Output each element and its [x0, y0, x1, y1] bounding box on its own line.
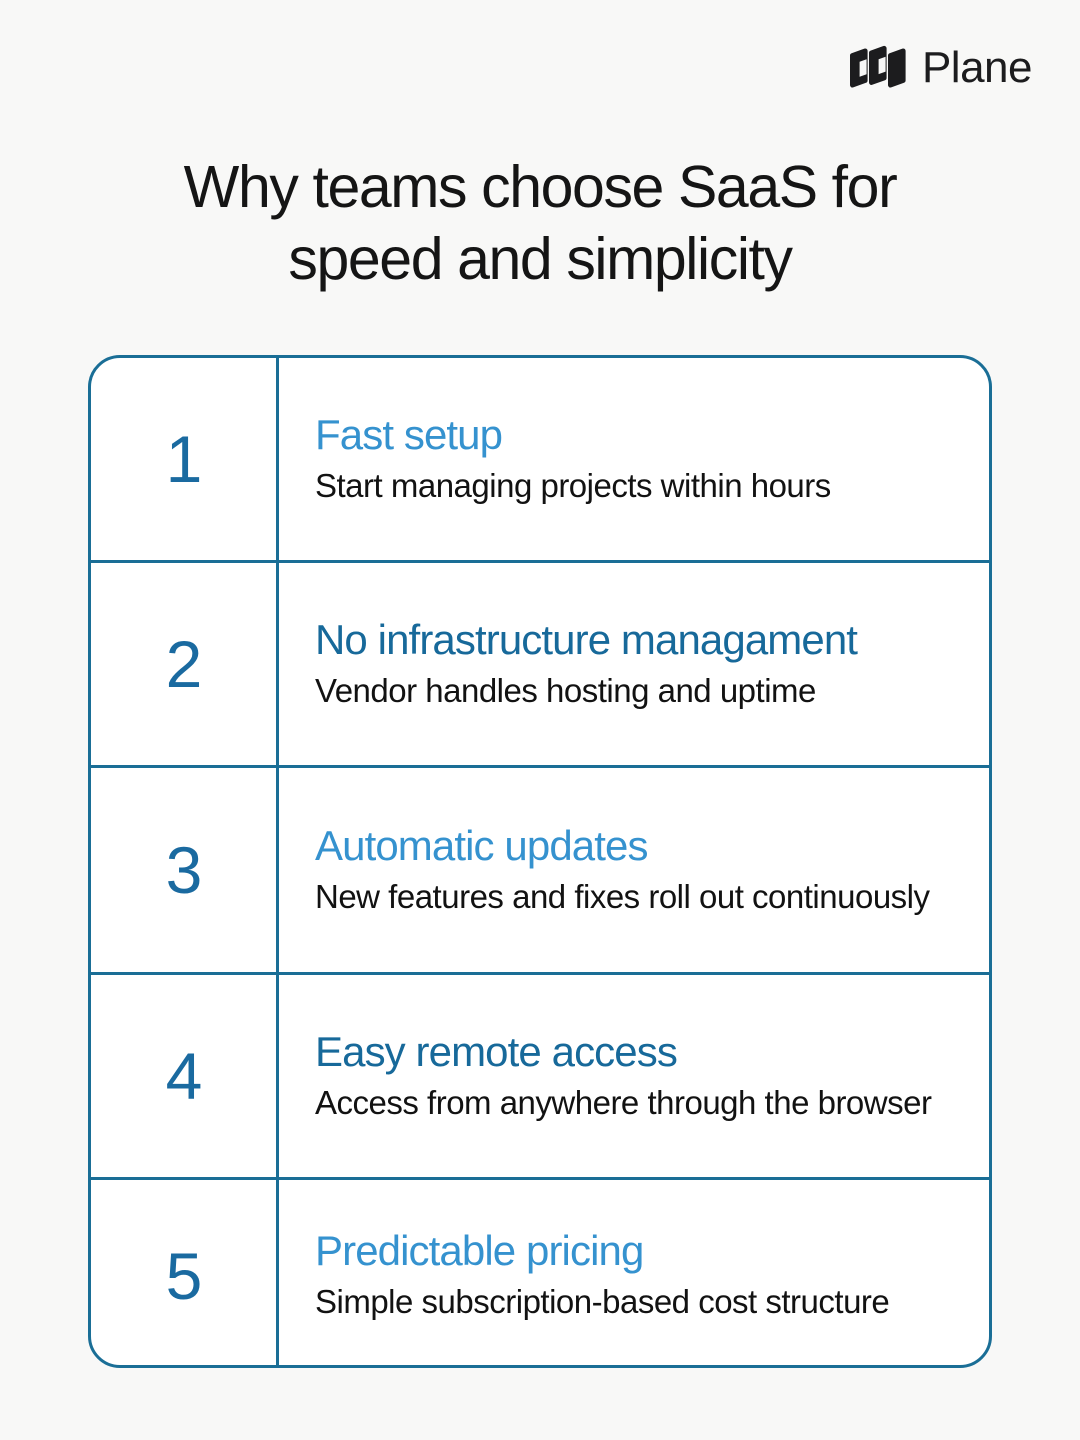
row-number-cell: 1	[91, 358, 279, 560]
row-number-cell: 2	[91, 563, 279, 765]
brand-lockup: Plane	[848, 44, 1032, 92]
row-heading: Easy remote access	[315, 1028, 953, 1075]
row-heading: Automatic updates	[315, 822, 953, 869]
table-row: 1 Fast setup Start managing projects wit…	[91, 358, 989, 563]
row-content: Predictable pricing Simple subscription-…	[279, 1180, 989, 1368]
brand-name: Plane	[922, 46, 1032, 90]
benefits-table: 1 Fast setup Start managing projects wit…	[88, 355, 992, 1368]
row-number-cell: 4	[91, 975, 279, 1177]
row-content: Fast setup Start managing projects withi…	[279, 358, 989, 560]
row-number-cell: 3	[91, 768, 279, 972]
row-description: Access from anywhere through the browser	[315, 1081, 953, 1125]
row-heading: No infrastructure managament	[315, 616, 953, 663]
row-content: Automatic updates New features and fixes…	[279, 768, 989, 972]
row-number: 3	[166, 837, 202, 903]
row-description: New features and fixes roll out continuo…	[315, 875, 953, 919]
page-title: Why teams choose SaaS for speed and simp…	[100, 152, 980, 296]
row-number-cell: 5	[91, 1180, 279, 1368]
row-description: Vendor handles hosting and uptime	[315, 669, 953, 713]
row-number: 1	[166, 426, 202, 492]
table-row: 3 Automatic updates New features and fix…	[91, 768, 989, 975]
table-row: 2 No infrastructure managament Vendor ha…	[91, 563, 989, 768]
row-description: Start managing projects within hours	[315, 464, 953, 508]
row-heading: Fast setup	[315, 411, 953, 458]
row-number: 5	[166, 1243, 202, 1309]
plane-logo-icon	[848, 44, 908, 92]
row-number: 4	[166, 1043, 202, 1109]
row-content: No infrastructure managament Vendor hand…	[279, 563, 989, 765]
row-description: Simple subscription-based cost structure	[315, 1280, 953, 1324]
row-number: 2	[166, 631, 202, 697]
row-heading: Predictable pricing	[315, 1227, 953, 1274]
row-content: Easy remote access Access from anywhere …	[279, 975, 989, 1177]
table-row: 4 Easy remote access Access from anywher…	[91, 975, 989, 1180]
table-row: 5 Predictable pricing Simple subscriptio…	[91, 1180, 989, 1368]
